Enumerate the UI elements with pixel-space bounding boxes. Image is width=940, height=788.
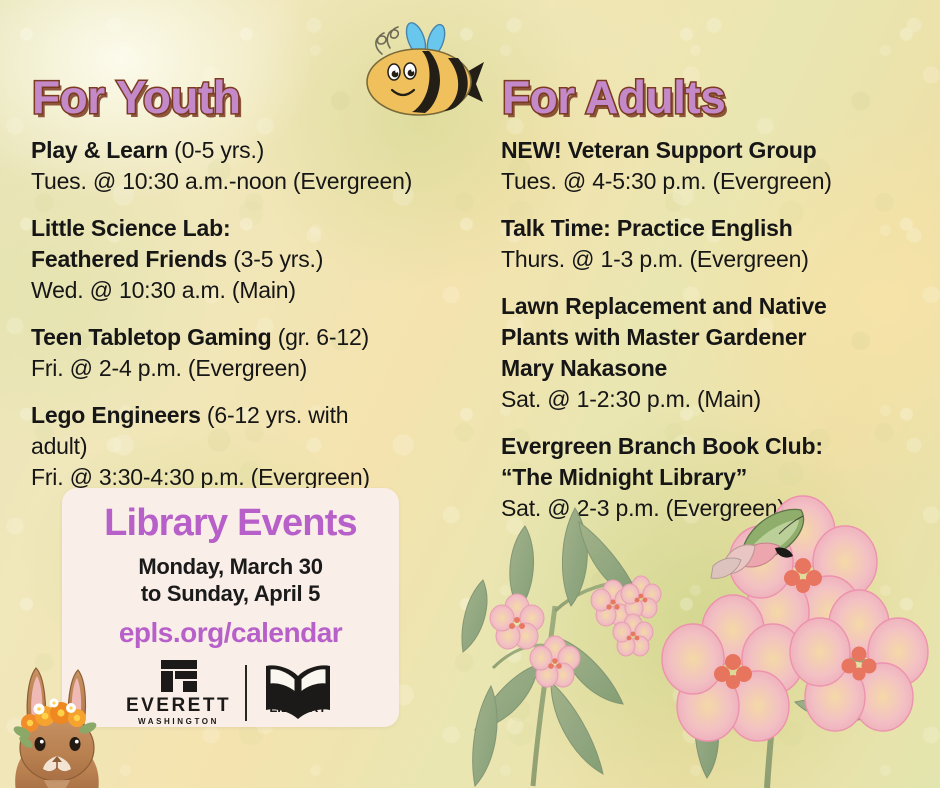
event-item: Lawn Replacement and Native Plants with … [501,291,926,415]
library-events-info-card: Library Events Monday, March 30 to Sunda… [62,488,399,727]
event-age-range-continued: adult) [31,431,491,462]
everett-wordmark: EVERETT [126,696,231,715]
event-title: NEW! Veteran Support Group [501,135,926,166]
section-heading-for-adults: For Adults [502,70,725,124]
event-title: Talk Time: Practice English [501,213,926,244]
calendar-url-link[interactable]: epls.org/calendar [62,617,399,649]
event-heading-line: Teen Tabletop Gaming (gr. 6-12) [31,322,491,353]
event-schedule: Tues. @ 4-5:30 p.m. (Evergreen) [501,166,926,197]
event-age-range: (gr. 6-12) [272,324,370,350]
event-title: Lawn Replacement and Native [501,291,926,322]
card-title: Library Events [62,502,399,545]
logo-row: EVERETT WASHINGTON EVERETT PUBLIC LIBRAR… [62,659,399,726]
everett-state-label: WASHINGTON [138,717,219,726]
event-item: Talk Time: Practice English Thurs. @ 1-3… [501,213,926,275]
event-title: Play & Learn [31,137,168,163]
event-title: Little Science Lab: [31,215,230,241]
card-date-range: Monday, March 30 to Sunday, April 5 [62,553,399,607]
section-heading-for-youth: For Youth [32,70,240,124]
adults-event-list: NEW! Veteran Support Group Tues. @ 4-5:3… [501,135,926,540]
event-age-range: (6-12 yrs. with [201,402,349,428]
flyer-canvas: For Youth For Adults Play & Learn (0-5 y… [0,0,940,788]
event-schedule: Sat. @ 2-3 p.m. (Evergreen) [501,493,926,524]
event-title: Teen Tabletop Gaming [31,324,272,350]
event-schedule: Sat. @ 1-2:30 p.m. (Main) [501,384,926,415]
bee-illustration [352,14,487,126]
event-heading-line: Play & Learn (0-5 yrs.) [31,135,491,166]
library-logo-line2: LIBRARY [269,700,327,715]
event-schedule: Wed. @ 10:30 a.m. (Main) [31,275,491,306]
event-title: Lego Engineers [31,402,201,428]
event-item: Evergreen Branch Book Club: “The Midnigh… [501,431,926,524]
event-schedule: Thurs. @ 1-3 p.m. (Evergreen) [501,244,926,275]
everett-public-library-logo: EVERETT PUBLIC LIBRARY [261,660,335,726]
card-date-start: Monday, March 30 [62,553,399,580]
event-title-continued: Plants with Master Gardener [501,322,926,353]
event-item: NEW! Veteran Support Group Tues. @ 4-5:3… [501,135,926,197]
event-item: Teen Tabletop Gaming (gr. 6-12) Fri. @ 2… [31,322,491,384]
event-title-continued: Feathered Friends [31,246,227,272]
everett-mark-icon [159,659,199,693]
event-title: Evergreen Branch Book Club: [501,431,926,462]
event-schedule: Fri. @ 2-4 p.m. (Evergreen) [31,353,491,384]
event-item: Lego Engineers (6-12 yrs. with adult) Fr… [31,400,491,493]
event-schedule: Tues. @ 10:30 a.m.-noon (Evergreen) [31,166,491,197]
library-logo-line1: EVERETT PUBLIC [266,691,331,700]
event-title-continued: “The Midnight Library” [501,462,926,493]
event-item: Play & Learn (0-5 yrs.) Tues. @ 10:30 a.… [31,135,491,197]
event-heading-line: Little Science Lab: [31,213,491,244]
event-age-range: (0-5 yrs.) [168,137,264,163]
event-age-range: (3-5 yrs.) [227,246,323,272]
event-item: Little Science Lab: Feathered Friends (3… [31,213,491,306]
city-of-everett-logo: EVERETT WASHINGTON [126,659,231,726]
event-heading-line: Lego Engineers (6-12 yrs. with [31,400,491,431]
logo-divider [245,665,247,721]
card-date-end: to Sunday, April 5 [62,580,399,607]
event-title-continued-2: Mary Nakasone [501,353,926,384]
youth-event-list: Play & Learn (0-5 yrs.) Tues. @ 10:30 a.… [31,135,491,509]
event-heading-line-2: Feathered Friends (3-5 yrs.) [31,244,491,275]
